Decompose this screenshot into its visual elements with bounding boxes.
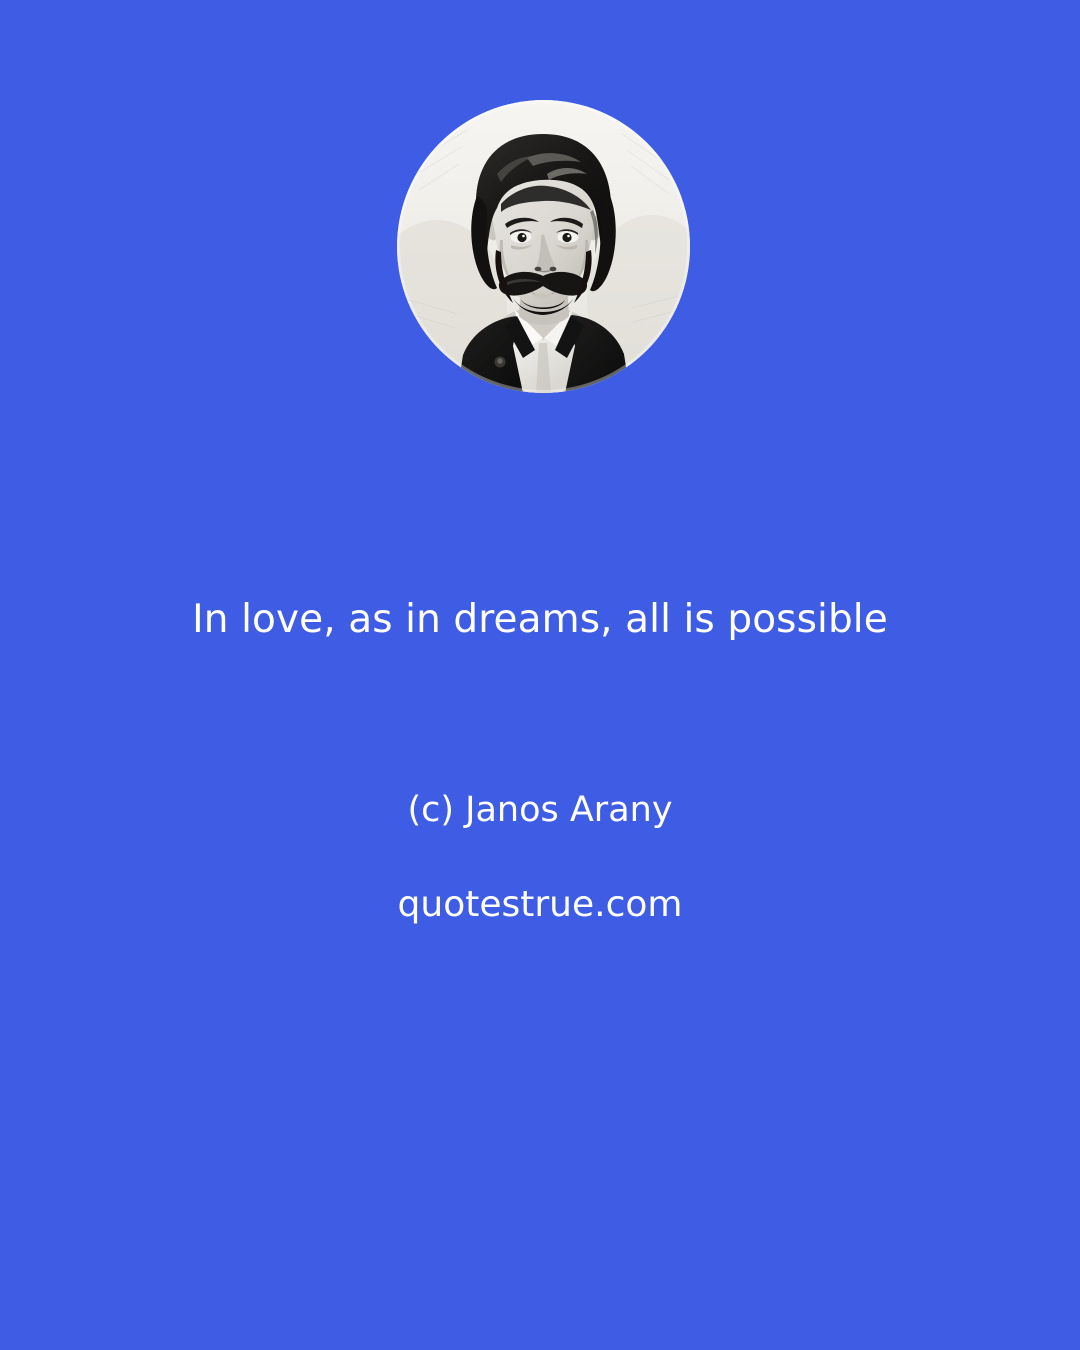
author-portrait <box>397 100 690 393</box>
quote-attribution: (c) Janos Arany <box>0 788 1080 832</box>
site-watermark: quotestrue.com <box>0 882 1080 928</box>
quote-card: In love, as in dreams, all is possible (… <box>0 0 1080 1350</box>
author-portrait-circle-icon <box>397 100 690 393</box>
quote-text: In love, as in dreams, all is possible <box>0 596 1080 644</box>
